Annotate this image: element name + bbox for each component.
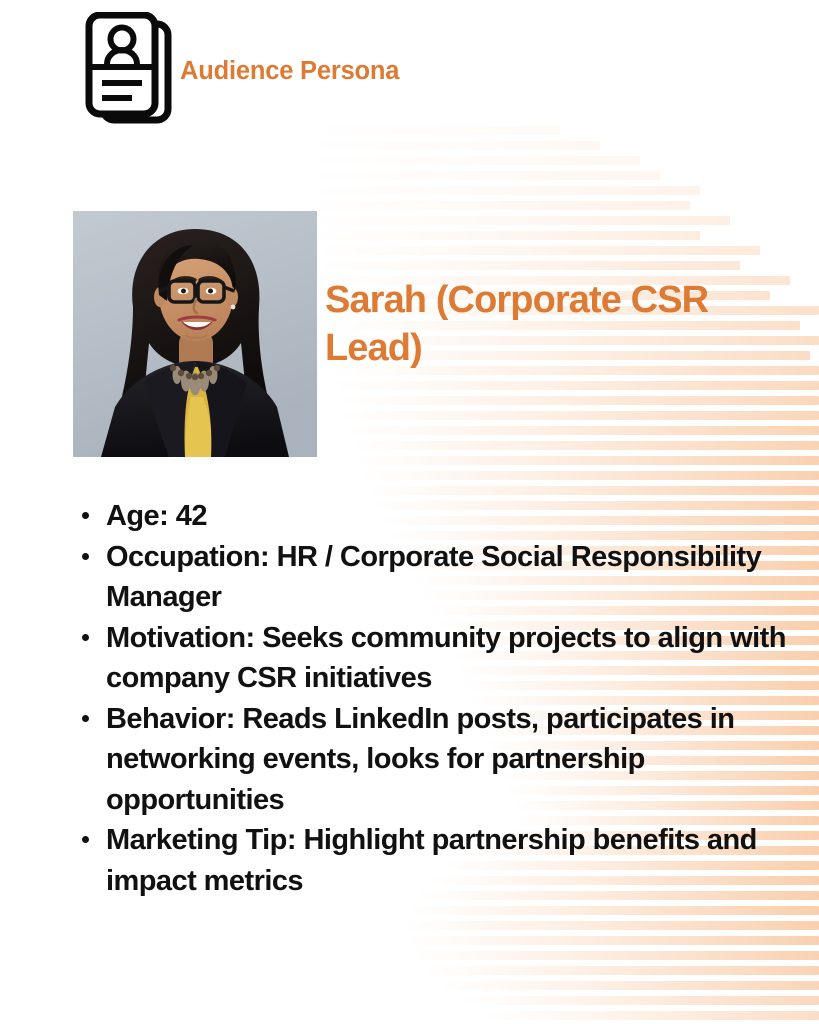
persona-trait-item: Marketing Tip: Highlight partnership ben… bbox=[76, 820, 802, 901]
stripe bbox=[486, 1011, 819, 1020]
stripe bbox=[310, 216, 730, 225]
persona-trait-item: Age: 42 bbox=[76, 496, 802, 537]
stripe bbox=[410, 906, 819, 915]
stripe bbox=[300, 141, 600, 150]
persona-trait-text: Marketing Tip: Highlight partnership ben… bbox=[106, 824, 757, 897]
stripe bbox=[338, 396, 819, 405]
stripe bbox=[426, 966, 819, 975]
stripe bbox=[302, 156, 640, 165]
persona-trait-item: Motivation: Seeks community projects to … bbox=[76, 618, 802, 699]
stripe bbox=[356, 456, 819, 465]
stripe bbox=[362, 471, 819, 480]
bullet-dot-icon bbox=[82, 836, 89, 843]
bullet-dot-icon bbox=[82, 715, 89, 722]
stripe bbox=[308, 201, 690, 210]
stripe bbox=[316, 246, 760, 255]
bullet-dot-icon bbox=[82, 634, 89, 641]
stripe bbox=[342, 411, 819, 420]
slide-header: Audience Persona bbox=[84, 12, 399, 130]
stripe bbox=[406, 936, 819, 945]
persona-trait-text: Occupation: HR / Corporate Social Respon… bbox=[106, 541, 761, 614]
stripe bbox=[318, 261, 740, 270]
bullet-dot-icon bbox=[82, 512, 89, 519]
persona-slide: Audience Persona bbox=[0, 0, 819, 1024]
persona-name: Sarah (Corporate CSR Lead) bbox=[325, 276, 737, 372]
stripe bbox=[350, 441, 819, 450]
page-title: Audience Persona bbox=[180, 57, 399, 86]
stripe bbox=[346, 426, 819, 435]
persona-trait-item: Occupation: HR / Corporate Social Respon… bbox=[76, 537, 802, 618]
persona-traits-list: Age: 42Occupation: HR / Corporate Social… bbox=[76, 496, 802, 901]
bullet-dot-icon bbox=[82, 553, 89, 560]
persona-trait-item: Behavior: Reads LinkedIn posts, particip… bbox=[76, 699, 802, 821]
persona-trait-text: Age: 42 bbox=[106, 500, 207, 532]
stripe bbox=[334, 381, 819, 390]
stripe bbox=[414, 951, 819, 960]
stripe bbox=[404, 921, 819, 930]
persona-trait-text: Behavior: Reads LinkedIn posts, particip… bbox=[106, 703, 734, 816]
stripe bbox=[368, 486, 819, 495]
stripe bbox=[312, 231, 700, 240]
stripe bbox=[304, 171, 660, 180]
stripe bbox=[442, 981, 819, 990]
persona-card-icon bbox=[84, 12, 176, 130]
portrait-photo-graphic bbox=[73, 211, 317, 457]
stripe bbox=[306, 186, 700, 195]
stripe bbox=[462, 996, 819, 1005]
portrait-photo bbox=[73, 211, 317, 457]
persona-trait-text: Motivation: Seeks community projects to … bbox=[106, 622, 786, 695]
